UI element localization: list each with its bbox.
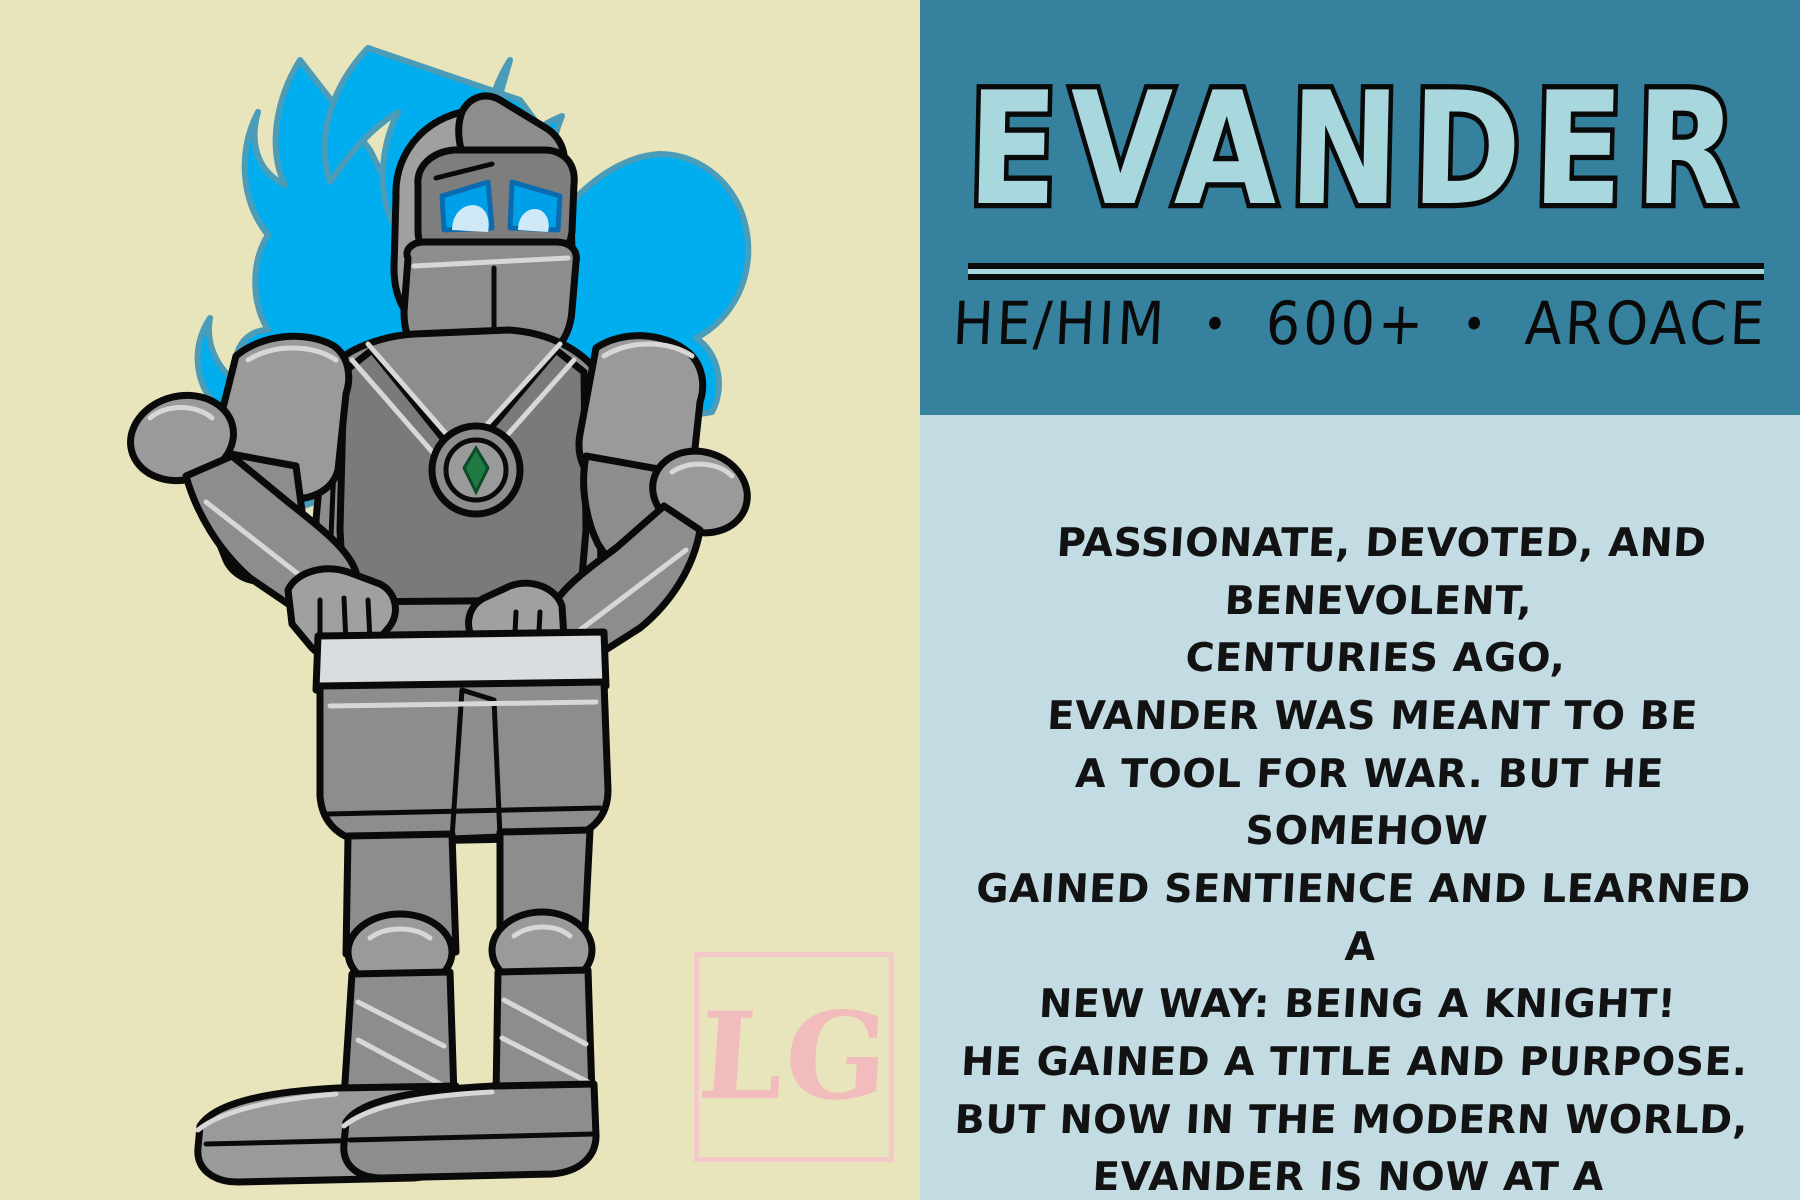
- meta-separator-2: •: [1445, 300, 1506, 351]
- armored-boots: [198, 1084, 596, 1182]
- pronouns-value: HE/HIM: [951, 289, 1168, 358]
- title-divider: [968, 263, 1764, 280]
- character-meta-line: HE/HIM • 600+ • AROACE: [918, 289, 1800, 358]
- meta-separator-1: •: [1186, 300, 1247, 351]
- info-column: EVANDER HE/HIM • 600+ • AROACE PASSIONAT…: [920, 0, 1800, 1200]
- character-name-title: EVANDER: [917, 72, 1800, 228]
- knight-character-illustration: .ol { stroke:#0a0a0a; stroke-width:7; st…: [0, 0, 920, 1200]
- character-reference-sheet: .ol { stroke:#0a0a0a; stroke-width:7; st…: [0, 0, 1800, 1200]
- chest-emblem-icon: [432, 426, 520, 514]
- knight-helmet-icon: [394, 96, 576, 368]
- armored-skirt: [320, 682, 608, 842]
- name-header-band: EVANDER HE/HIM • 600+ • AROACE: [920, 0, 1800, 415]
- biography-panel: PASSIONATE, DEVOTED, AND BENEVOLENT, CEN…: [920, 415, 1800, 1200]
- orientation-value: AROACE: [1524, 289, 1769, 358]
- legs-armor: [344, 830, 592, 1098]
- biography-text: PASSIONATE, DEVOTED, AND BENEVOLENT, CEN…: [935, 475, 1785, 1200]
- age-value: 600+: [1264, 289, 1428, 358]
- artwork-panel: .ol { stroke:#0a0a0a; stroke-width:7; st…: [0, 0, 920, 1200]
